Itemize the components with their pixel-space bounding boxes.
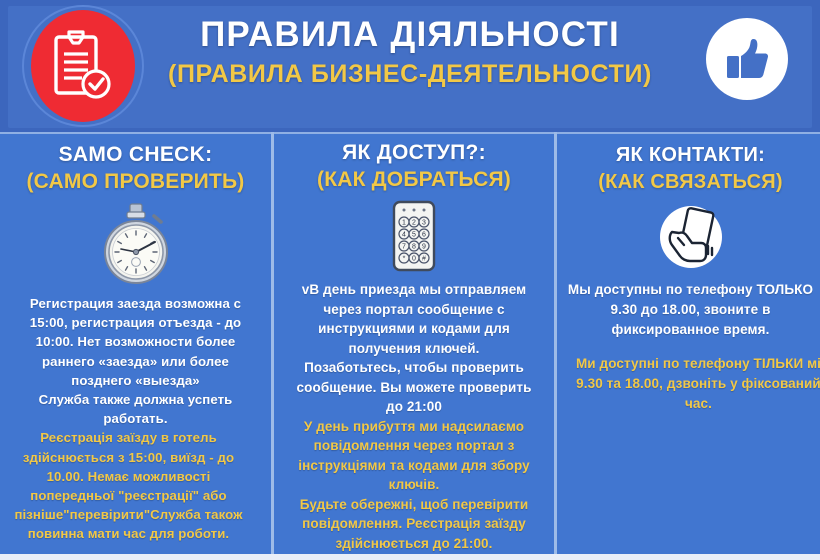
infographic-poster: ПРАВИЛА ДІЯЛЬНОСТІ (ПРАВИЛА БИЗНЕС-ДЕЯТЕ… (0, 0, 820, 560)
keypad-key: 1 (402, 220, 406, 227)
keypad-key: 6 (422, 232, 426, 239)
column-heading-ru: (САМО ПРОВЕРИТЬ) (4, 168, 267, 196)
hand-phone-icon (656, 202, 726, 272)
clipboard-check-badge (22, 5, 144, 127)
thumbs-up-badge (706, 18, 788, 100)
column-contact: ЯК КОНТАКТИ: (КАК СВЯЗАТЬСЯ) Мы доступны… (557, 132, 820, 560)
column-heading-uk: SAMO CHECK: (4, 142, 267, 168)
keypad-key: 8 (412, 244, 416, 251)
keypad-key: 3 (422, 220, 426, 227)
column-heading-uk: ЯК ДОСТУП?: (280, 140, 548, 166)
keypad-key: 7 (402, 244, 406, 251)
column-heading-uk: ЯК КОНТАКТИ: (563, 142, 818, 168)
poster-title-uk: ПРАВИЛА ДІЯЛЬНОСТІ (150, 14, 670, 56)
column-heading-ru: (КАК СВЯЗАТЬСЯ) (563, 168, 818, 196)
column-body-ru: Мы доступны по телефону ТОЛЬКО 9.30 до 1… (563, 280, 818, 340)
keypad-key: 0 (412, 256, 416, 263)
content-columns: SAMO CHECK: (САМО ПРОВЕРИТЬ) (0, 132, 820, 560)
bottom-rule (0, 554, 820, 560)
keypad-icon: 1 2 3 4 5 6 7 8 9 * 0 # (388, 200, 440, 272)
column-body-uk: У день прибуття ми надсилаємо повідомлен… (280, 417, 548, 554)
column-body-ru: vВ день приезда мы отправляем через порт… (280, 280, 548, 417)
column-access: ЯК ДОСТУП?: (КАК ДОБРАТЬСЯ) 1 2 3 4 (274, 132, 554, 560)
keypad-key: 5 (412, 232, 416, 239)
poster-title-ru: (ПРАВИЛА БИЗНЕС-ДЕЯТЕЛЬНОСТИ) (150, 56, 670, 92)
keypad-key: 9 (422, 244, 426, 251)
clipboard-check-icon (52, 30, 114, 102)
column-body-ru: Регистрация заезда возможна с 15:00, рег… (4, 294, 267, 428)
keypad-key: # (422, 256, 426, 263)
stopwatch-icon (98, 202, 174, 286)
column-self-check: SAMO CHECK: (САМО ПРОВЕРИТЬ) (0, 132, 271, 560)
column-body-uk: Реєстрація заїзду в готель здійснюється … (0, 428, 267, 543)
column-heading-ru: (КАК ДОБРАТЬСЯ) (280, 166, 548, 194)
thumbs-up-icon (724, 36, 770, 82)
keypad-key: 4 (402, 232, 406, 239)
keypad-key: * (403, 256, 406, 263)
keypad-key: 2 (412, 220, 416, 227)
header-title-block: ПРАВИЛА ДІЯЛЬНОСТІ (ПРАВИЛА БИЗНЕС-ДЕЯТЕ… (150, 14, 670, 92)
poster-header: ПРАВИЛА ДІЯЛЬНОСТІ (ПРАВИЛА БИЗНЕС-ДЕЯТЕ… (0, 0, 820, 132)
column-body-uk: Ми доступні по телефону ТІЛЬКИ мі 9.30 т… (563, 354, 820, 414)
